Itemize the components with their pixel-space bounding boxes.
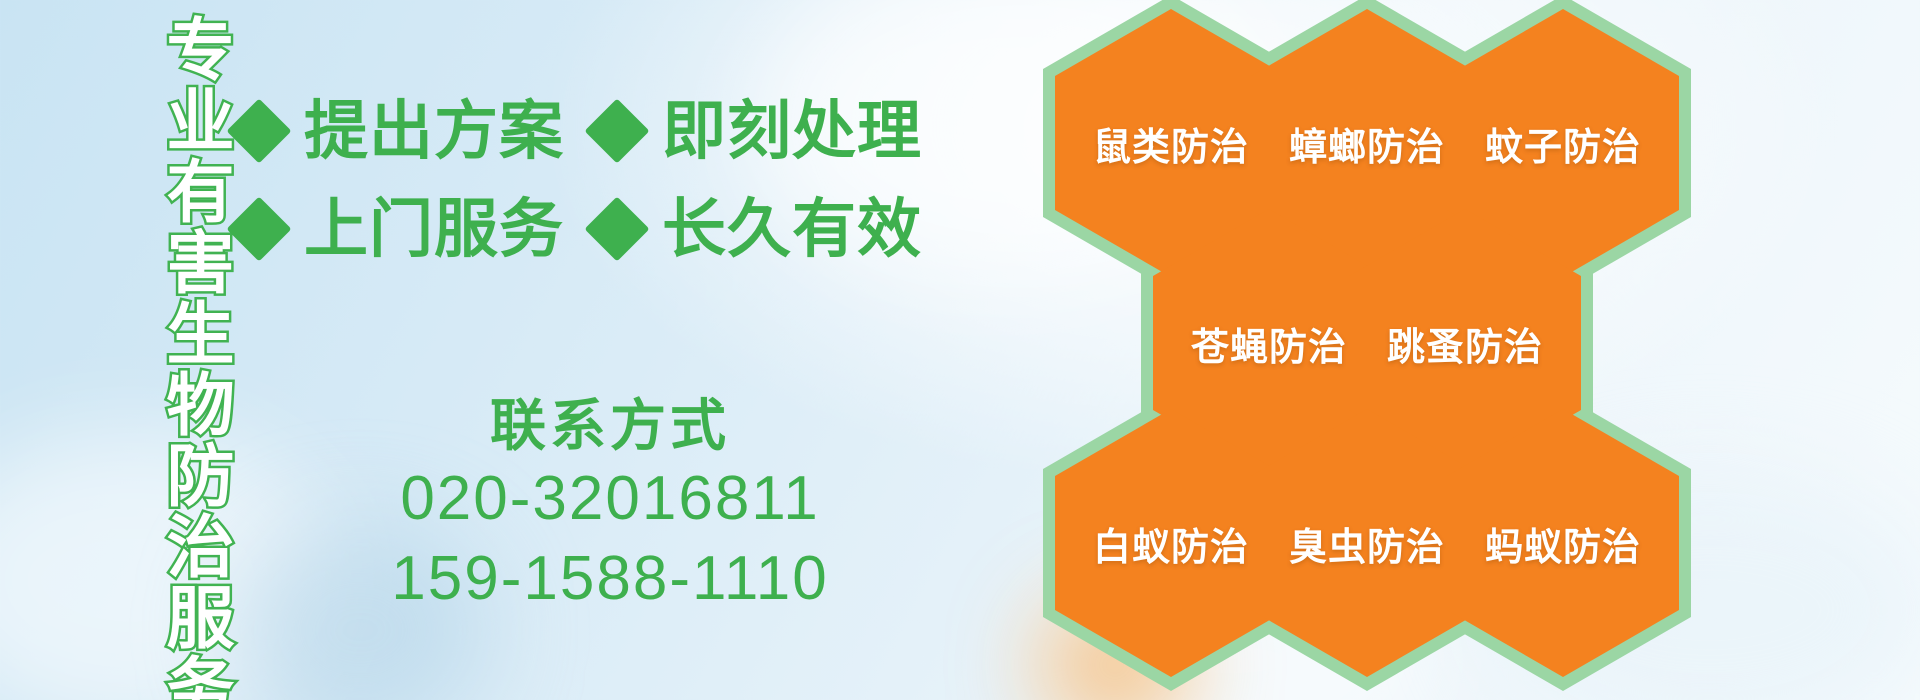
hex-label: 跳蚤防治 [1387,316,1543,371]
diamond-icon [584,196,649,261]
service-honeycomb: 鼠类防治 蟑螂防治 蚊子防治 苍蝇防治 跳蚤防治 白蚁防治 臭虫防治 蚂蚁防治 [1055,0,1815,700]
feature-item-immediate-handling: 即刻处理 [594,99,922,163]
vertical-headline: 专业有害生物防治服务 [112,14,228,574]
hex-label: 鼠类防治 [1093,116,1249,171]
diamond-icon [226,196,291,261]
contact-title: 联系方式 [300,392,920,459]
phone-number-mobile[interactable]: 159-1588-1110 [300,539,920,618]
feature-label: 长久有效 [662,197,922,261]
feature-item-long-lasting: 长久有效 [594,197,922,261]
feature-row-1: 提出方案 即刻处理 [236,82,896,180]
feature-label: 上门服务 [304,197,564,261]
hex-label: 蚊子防治 [1485,116,1641,171]
feature-row-2: 上门服务 长久有效 [236,180,896,278]
feature-item-propose-plan: 提出方案 [236,99,564,163]
hex-label: 苍蝇防治 [1191,316,1347,371]
contact-block: 联系方式 020-32016811 159-1588-1110 [300,392,920,618]
feature-label: 提出方案 [304,99,564,163]
feature-list: 提出方案 即刻处理 上门服务 长久有效 [236,82,896,278]
hex-label: 蚂蚁防治 [1485,516,1641,571]
hex-label: 白蚁防治 [1093,516,1249,571]
hex-label: 臭虫防治 [1289,516,1445,571]
phone-number-landline[interactable]: 020-32016811 [300,459,920,538]
diamond-icon [226,98,291,163]
diamond-icon [584,98,649,163]
hex-label: 蟑螂防治 [1289,116,1445,171]
feature-item-onsite-service: 上门服务 [236,197,564,261]
feature-label: 即刻处理 [662,99,922,163]
